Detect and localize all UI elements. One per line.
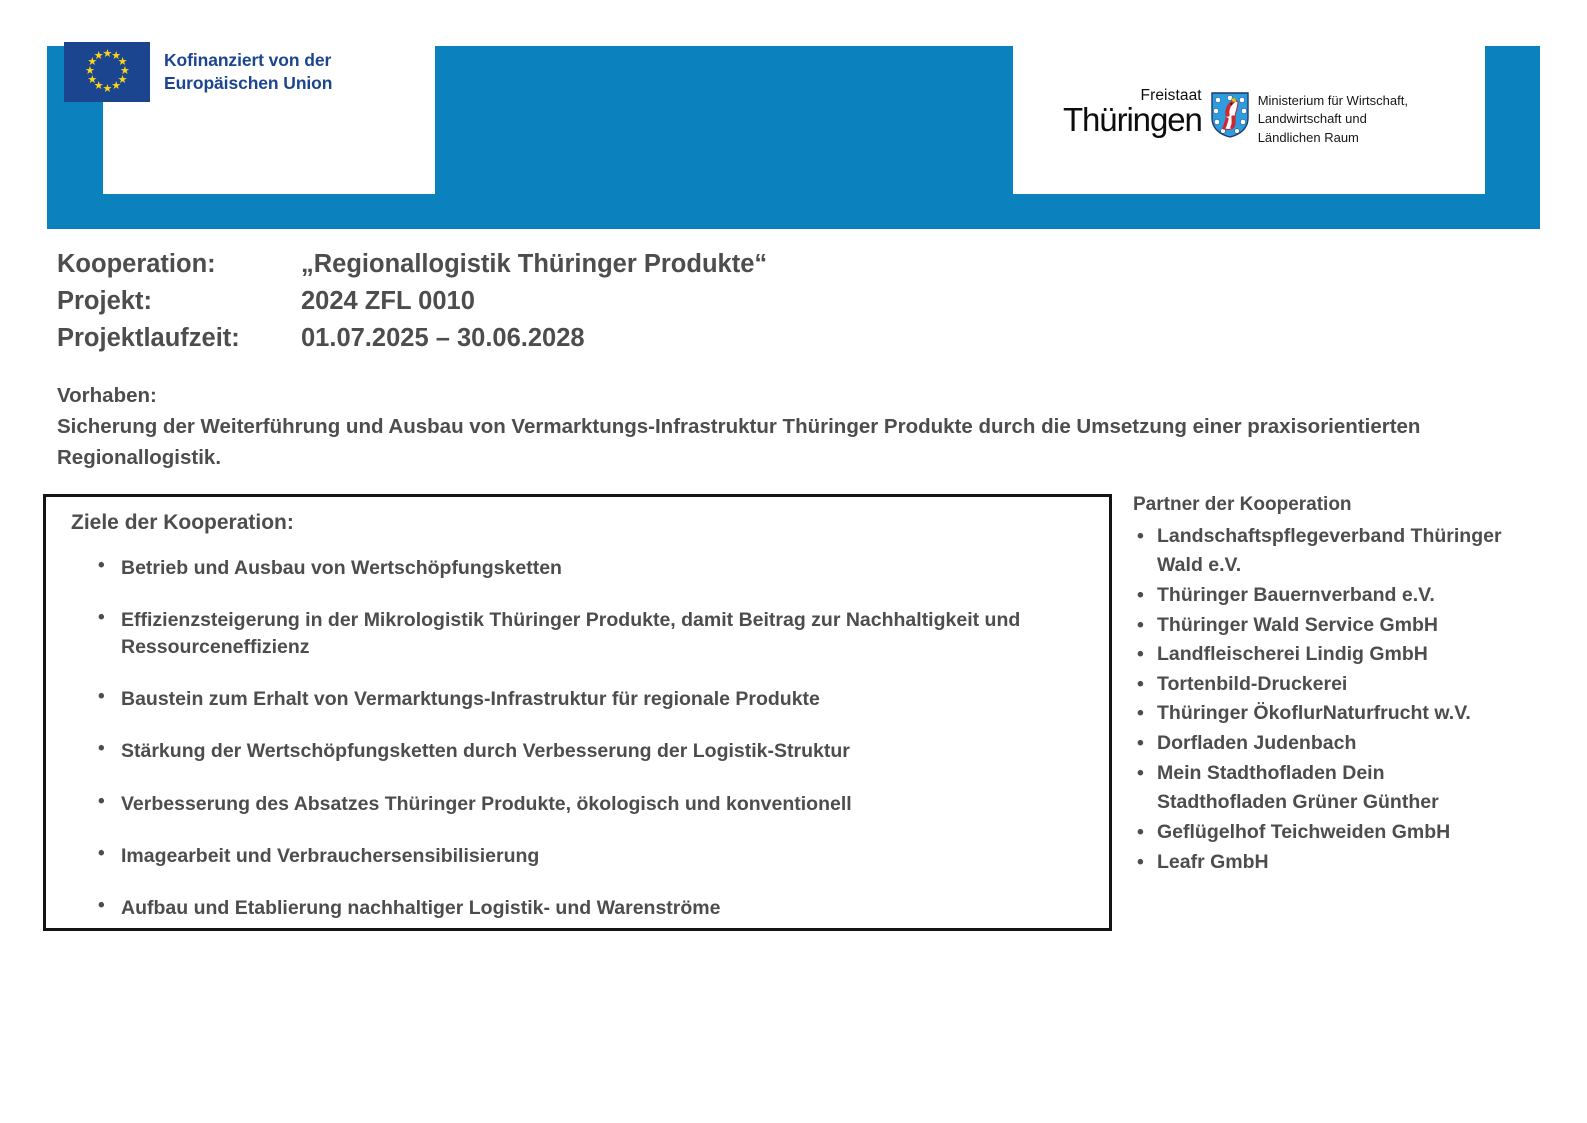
bullet-icon: • (98, 684, 105, 710)
ziele-list-item: •Aufbau und Etablierung nachhaltiger Log… (69, 895, 1095, 921)
projekt-value: 2024 ZFL 0010 (301, 283, 475, 320)
ziele-list-item: •Effizienzsteigerung in der Mikrologisti… (69, 607, 1095, 660)
partner-title: Partner der Kooperation (1133, 493, 1505, 518)
eu-star-icon: ★ (103, 85, 112, 94)
partner-list-item: •Leafr GmbH (1133, 848, 1505, 878)
title-row-kooperation: Kooperation: „Regionallogistik Thüringer… (57, 246, 767, 283)
title-row-projektlaufzeit: Projektlaufzeit: 01.07.2025 – 30.06.2028 (57, 320, 767, 357)
ziele-title: Ziele der Kooperation: (71, 511, 294, 535)
partner-list-item: •Thüringer ÖkoflurNaturfrucht w.V. (1133, 699, 1505, 729)
bullet-icon: • (1137, 848, 1144, 878)
partner-list-item: •Thüringer Wald Service GmbH (1133, 611, 1505, 641)
eu-star-icon: ★ (111, 82, 120, 91)
partner-list-item: •Tortenbild-Druckerei (1133, 670, 1505, 700)
bullet-icon: • (1137, 670, 1144, 700)
thueringen-wordmark: Freistaat Thüringen (1063, 88, 1202, 135)
kooperation-value: „Regionallogistik Thüringer Produkte“ (301, 246, 767, 283)
ziele-list-item-label: Stärkung der Wertschöpfungsketten durch … (121, 740, 850, 762)
thuringia-coat-of-arms-icon (1211, 92, 1249, 138)
kooperation-label: Kooperation: (57, 246, 301, 283)
eu-star-icon: ★ (94, 52, 103, 61)
partner-list-item: •Geflügelhof Teichweiden GmbH (1133, 818, 1505, 848)
partner-list-item-label: Thüringer Bauernverband e.V. (1157, 584, 1435, 606)
bullet-icon: • (1137, 759, 1144, 789)
bullet-icon: • (98, 789, 105, 815)
partner-list-item: •Landfleischerei Lindig GmbH (1133, 640, 1505, 670)
bullet-icon: • (1137, 640, 1144, 670)
ziele-list-item: •Stärkung der Wertschöpfungsketten durch… (69, 738, 1095, 764)
ziele-list-item-label: Aufbau und Etablierung nachhaltiger Logi… (121, 897, 720, 919)
projekt-label: Projekt: (57, 283, 301, 320)
partner-list-item: •Dorfladen Judenbach (1133, 729, 1505, 759)
partner-list-item: •Mein Stadthofladen Dein Stadthofladen G… (1133, 759, 1505, 818)
bullet-icon: • (1137, 699, 1144, 729)
ziele-list-item: •Betrieb und Ausbau von Wertschöpfungske… (69, 555, 1095, 581)
project-title-block: Kooperation: „Regionallogistik Thüringer… (57, 246, 767, 358)
partner-list-item-label: Dorfladen Judenbach (1157, 732, 1356, 754)
partner-list-item: •Landschaftspflegeverband Thüringer Wald… (1133, 522, 1505, 581)
eu-funding-text: Kofinanziert von der Europäischen Union (164, 49, 332, 95)
ziele-list-item-label: Baustein zum Erhalt von Vermarktungs-Inf… (121, 688, 820, 710)
vorhaben-section: Vorhaben: Sicherung der Weiterführung un… (57, 380, 1477, 473)
partner-list-item-label: Thüringer ÖkoflurNaturfrucht w.V. (1157, 702, 1471, 724)
thueringen-label: Thüringen (1063, 105, 1202, 135)
eu-logo: ★★★★★★★★★★★★ Kofinanziert von der Europä… (64, 42, 332, 102)
bullet-icon: • (98, 553, 105, 579)
eu-star-icon: ★ (103, 50, 112, 59)
thueringen-logo: Freistaat Thüringen Ministerium für Wirt… (1063, 88, 1408, 147)
partner-list-item-label: Thüringer Wald Service GmbH (1157, 614, 1438, 636)
partner-list-item-label: Leafr GmbH (1157, 851, 1269, 873)
ziele-list-item: •Baustein zum Erhalt von Vermarktungs-In… (69, 686, 1095, 712)
ministry-text: Ministerium für Wirtschaft, Landwirtscha… (1258, 92, 1408, 147)
title-row-projekt: Projekt: 2024 ZFL 0010 (57, 283, 767, 320)
eu-flag-icon: ★★★★★★★★★★★★ (64, 42, 150, 102)
partner-list-item-label: Landfleischerei Lindig GmbH (1157, 643, 1428, 665)
partner-list-item: •Thüringer Bauernverband e.V. (1133, 581, 1505, 611)
ziele-list-item-label: Verbesserung des Absatzes Thüringer Prod… (121, 793, 852, 815)
eu-funding-line1: Kofinanziert von der (164, 49, 332, 72)
vorhaben-text: Sicherung der Weiterführung und Ausbau v… (57, 411, 1477, 473)
ziele-list-item-label: Imagearbeit und Verbrauchersensibilisier… (121, 845, 539, 867)
projektlaufzeit-label: Projektlaufzeit: (57, 320, 301, 357)
partner-list-item-label: Mein Stadthofladen Dein Stadthofladen Gr… (1157, 762, 1439, 814)
bullet-icon: • (98, 893, 105, 919)
ziele-list-item-label: Effizienzsteigerung in der Mikrologistik… (121, 609, 1020, 657)
eu-star-icon: ★ (85, 67, 94, 76)
bullet-icon: • (1137, 818, 1144, 848)
partner-list-item-label: Landschaftspflegeverband Thüringer Wald … (1157, 525, 1502, 577)
ziele-list: •Betrieb und Ausbau von Wertschöpfungske… (69, 555, 1095, 948)
ziele-list-item: •Imagearbeit und Verbrauchersensibilisie… (69, 843, 1095, 869)
vorhaben-heading: Vorhaben: (57, 380, 1477, 411)
partner-column: Partner der Kooperation •Landschaftspfle… (1133, 493, 1505, 877)
ziele-list-item-label: Betrieb und Ausbau von Wertschöpfungsket… (121, 557, 562, 579)
projektlaufzeit-value: 01.07.2025 – 30.06.2028 (301, 320, 585, 357)
bullet-icon: • (1137, 729, 1144, 759)
bullet-icon: • (1137, 611, 1144, 641)
bullet-icon: • (98, 736, 105, 762)
eu-star-icon: ★ (87, 76, 96, 85)
partner-list: •Landschaftspflegeverband Thüringer Wald… (1133, 522, 1505, 878)
bullet-icon: • (98, 841, 105, 867)
ziele-box: Ziele der Kooperation: •Betrieb und Ausb… (43, 494, 1112, 931)
bullet-icon: • (1137, 581, 1144, 611)
ziele-list-item: •Verbesserung des Absatzes Thüringer Pro… (69, 791, 1095, 817)
ministry-line1: Ministerium für Wirtschaft, (1258, 92, 1408, 110)
eu-funding-line2: Europäischen Union (164, 72, 332, 95)
bullet-icon: • (1137, 522, 1144, 552)
ministry-line2: Landwirtschaft und (1258, 110, 1408, 128)
partner-list-item-label: Tortenbild-Druckerei (1157, 673, 1347, 695)
bullet-icon: • (98, 605, 105, 631)
ministry-line3: Ländlichen Raum (1258, 129, 1408, 147)
partner-list-item-label: Geflügelhof Teichweiden GmbH (1157, 821, 1450, 843)
